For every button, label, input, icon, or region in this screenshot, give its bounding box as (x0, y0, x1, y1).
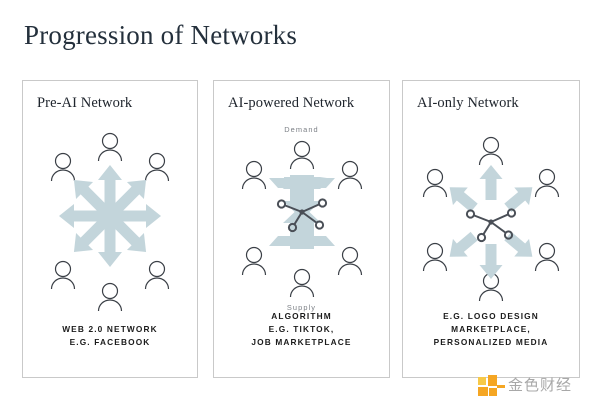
panel-title: AI-only Network (417, 95, 519, 112)
burst-network-svg (30, 119, 190, 329)
person-icon-body (242, 178, 265, 189)
arrow-down-icon (480, 244, 503, 279)
person-icon-head (103, 134, 118, 149)
person-icon-head (484, 138, 499, 153)
person-icon-head (342, 248, 357, 263)
caption-line: WEB 2.0 NETWORK (29, 323, 191, 336)
person-icon-head (150, 262, 165, 277)
panel-ai-powered-network: AI-powered Network Demand Supply (213, 80, 390, 378)
person-icon-body (480, 290, 503, 301)
person-icon-body (290, 286, 313, 297)
person-icon-body (52, 278, 75, 289)
slide-canvas: Progression of Networks Pre-AI Network (0, 0, 600, 402)
panel-caption: E.G. LOGO DESIGN MARKETPLACE, PERSONALIZ… (409, 310, 573, 349)
person-icon-head (428, 170, 443, 185)
panel-title: AI-powered Network (228, 95, 354, 112)
person-icon-body (338, 178, 361, 189)
person-icon-body (99, 300, 122, 311)
caption-line: E.G. TIKTOK, (220, 323, 383, 336)
arrow-up-left-icon (442, 178, 481, 216)
caption-line: MARKETPLACE, (409, 323, 573, 336)
person-icon-head (246, 162, 261, 177)
caption-line: ALGORITHM (220, 310, 383, 323)
arrow-down-left-icon (442, 227, 481, 265)
person-icon-head (428, 244, 443, 259)
panel-caption: ALGORITHM E.G. TIKTOK, JOB MARKETPLACE (220, 310, 383, 349)
person-icon-body (480, 154, 503, 165)
person-icon-body (99, 150, 122, 161)
person-icon-body (242, 264, 265, 275)
arrow-up-icon (480, 165, 503, 200)
arrow-up-right-icon (500, 178, 539, 216)
person-icon-head (294, 142, 309, 157)
caption-line: E.G. LOGO DESIGN (409, 310, 573, 323)
person-icon-head (246, 248, 261, 263)
panel-pre-ai-network: Pre-AI Network (22, 80, 198, 378)
page-title: Progression of Networks (24, 20, 297, 51)
person-icon-head (540, 244, 555, 259)
hub-network-svg (222, 137, 382, 327)
person-icon-body (424, 260, 447, 271)
person-icon-body (290, 158, 313, 169)
person-icon-head (294, 270, 309, 285)
caption-line: E.G. FACEBOOK (29, 336, 191, 349)
diagram-radiating-hub (403, 129, 579, 339)
person-icon-head (56, 262, 71, 277)
person-icon-head (56, 154, 71, 169)
person-icon-body (536, 260, 559, 271)
person-icon-body (52, 170, 75, 181)
person-icon-head (150, 154, 165, 169)
panel-ai-only-network: AI-only Network (402, 80, 580, 378)
person-icon-body (338, 264, 361, 275)
person-icon-body (536, 186, 559, 197)
watermark: 金色财经 (476, 372, 596, 400)
panel-caption: WEB 2.0 NETWORK E.G. FACEBOOK (29, 323, 191, 349)
burst-arrow-group (59, 165, 161, 267)
diagram-eight-way-burst (23, 119, 197, 329)
demand-label: Demand (214, 125, 389, 134)
person-icon-body (146, 170, 169, 181)
person-icon-head (540, 170, 555, 185)
person-icon-head (342, 162, 357, 177)
caption-line: JOB MARKETPLACE (220, 336, 383, 349)
person-icon-body (424, 186, 447, 197)
person-icon-head (103, 284, 118, 299)
radiating-network-svg (409, 129, 573, 329)
person-icon-body (146, 278, 169, 289)
watermark-text: 金色财经 (508, 374, 572, 395)
caption-line: PERSONALIZED MEDIA (409, 336, 573, 349)
panel-title: Pre-AI Network (37, 95, 132, 112)
